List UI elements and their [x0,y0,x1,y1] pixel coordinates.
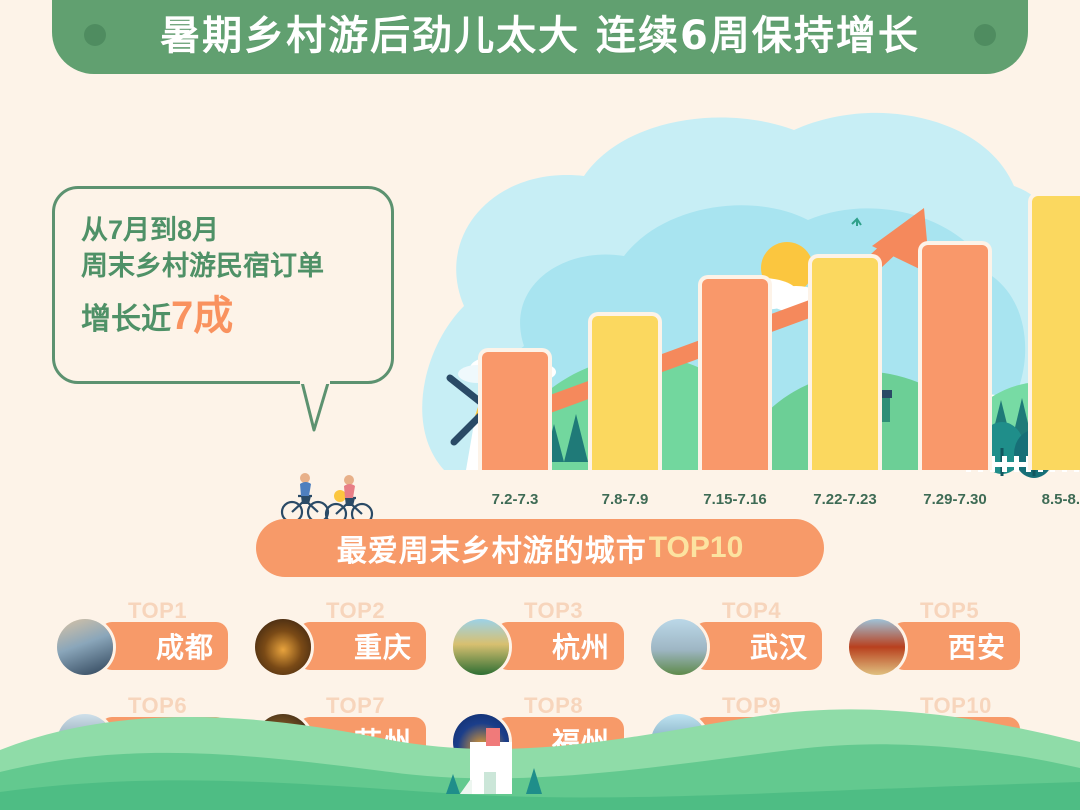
city-thumbnail[interactable] [846,616,908,678]
city-name-pill: 重庆 [298,622,426,670]
bar-6 [1028,192,1080,470]
bar-1 [478,348,552,470]
page-title: 暑期乡村游后劲儿太大 连续6周保持增长 [160,3,920,61]
city-name-pill: 杭州 [496,622,624,670]
bar-series [404,96,1080,516]
city-rank-label: TOP2 [326,598,385,624]
farmhouse-icon [430,716,570,796]
city-rank-label: TOP5 [920,598,979,624]
city-rank-label: TOP1 [128,598,187,624]
banner-dot-right [974,24,996,46]
city-name: 武汉 [750,626,808,666]
x-tick-6: 8.5-8.6 [1010,491,1080,508]
infographic-root: 暑期乡村游后劲儿太大 连续6周保持增长 从7月到8月 周末乡村游民宿订单 增长近… [0,0,1080,810]
city-thumbnail[interactable] [252,616,314,678]
x-tick-5: 7.29-7.30 [900,491,1010,508]
city-card-3[interactable]: TOP3 杭州 [450,598,648,688]
chart-illustration: 7.2-7.3 7.8-7.9 7.15-7.16 7.22-7.23 7.29… [404,96,1080,516]
city-name-pill: 西安 [892,622,1020,670]
bar-3 [698,275,772,470]
x-axis-labels: 7.2-7.3 7.8-7.9 7.15-7.16 7.22-7.23 7.29… [404,480,1080,508]
city-name-pill: 武汉 [694,622,822,670]
cyclist-basket [334,490,346,502]
top10-banner: 最爱周末乡村游的城市 TOP10 [256,519,824,577]
x-tick-2: 7.8-7.9 [570,491,680,508]
city-name: 杭州 [552,626,610,666]
header-banner: 暑期乡村游后劲儿太大 连续6周保持增长 [52,0,1028,74]
cyclist-head-1 [300,473,310,483]
city-rank-label: TOP3 [524,598,583,624]
callout-line-1: 从7月到8月 [81,213,365,249]
callout-bubble: 从7月到8月 周末乡村游民宿订单 增长近7成 [52,186,394,384]
callout-highlight: 7成 [171,294,233,338]
x-tick-3: 7.15-7.16 [680,491,790,508]
city-name-pill: 成都 [100,622,228,670]
city-thumbnail[interactable] [54,616,116,678]
city-card-2[interactable]: TOP2 重庆 [252,598,450,688]
banner-dot-left [84,24,106,46]
cyclist-head-2 [344,475,354,485]
top10-banner-label: 最爱周末乡村游的城市 [337,526,647,570]
cyclists-icon [278,466,388,526]
city-thumbnail[interactable] [648,616,710,678]
x-tick-1: 7.2-7.3 [460,491,570,508]
city-card-5[interactable]: TOP5 西安 [846,598,1044,688]
city-rank-label: TOP4 [722,598,781,624]
city-name: 重庆 [354,626,412,666]
top10-banner-accent: TOP10 [649,531,744,565]
city-thumbnail[interactable] [450,616,512,678]
bar-5 [918,241,992,470]
city-name: 成都 [156,626,214,666]
bar-2 [588,312,662,470]
x-tick-4: 7.22-7.23 [790,491,900,508]
bar-4 [808,254,882,470]
callout-line-3-prefix: 增长近 [81,303,171,336]
city-name: 西安 [948,626,1006,666]
callout-line-2: 周末乡村游民宿订单 [81,249,365,285]
city-card-4[interactable]: TOP4 武汉 [648,598,846,688]
city-card-1[interactable]: TOP1 成都 [54,598,252,688]
callout-line-3: 增长近7成 [81,290,365,343]
